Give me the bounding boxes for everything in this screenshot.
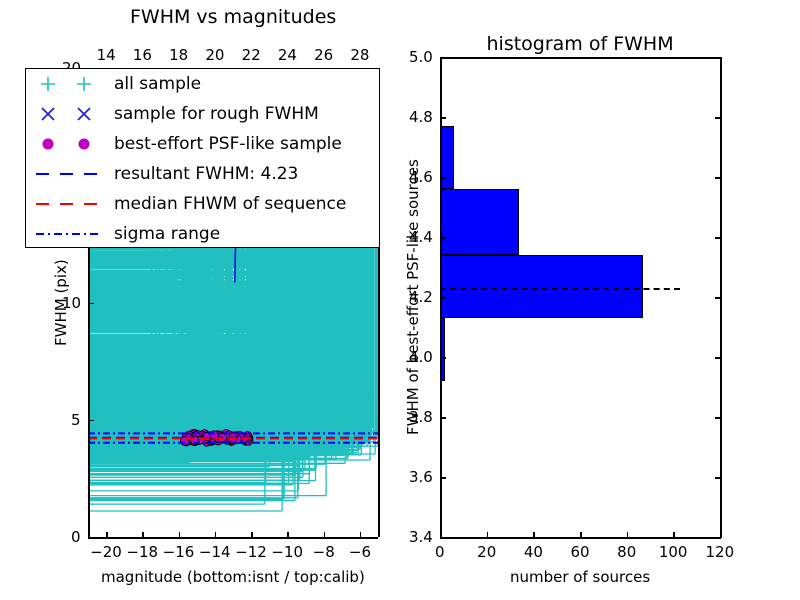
histogram-bar	[440, 189, 519, 255]
left-xtick-bottom	[179, 532, 181, 538]
right-ytick	[440, 57, 446, 59]
legend-marker-plus	[37, 73, 59, 95]
histogram-bar	[440, 126, 454, 189]
left-xticklabel-bottom: −8	[313, 543, 335, 561]
legend-label: best-effort PSF-like sample	[114, 134, 342, 154]
left-xtick-bottom	[324, 532, 326, 538]
right-xticklabel: 100	[659, 543, 688, 561]
right-ytick-mirror	[715, 297, 721, 299]
right-yaxis-label: FWHM of best-effort PSF-like sources	[404, 159, 422, 435]
legend-marker-plus	[73, 73, 95, 95]
right-yticklabel: 3.4	[409, 528, 433, 546]
left-xticklabel-top: 16	[133, 46, 152, 64]
left-xaxis-label: magnitude (bottom:isnt / top:calib)	[101, 568, 365, 586]
left-xticklabel-bottom: −6	[349, 543, 371, 561]
left-xticklabel-bottom: −14	[199, 543, 231, 561]
left-xticklabel-top: 18	[169, 46, 188, 64]
right-xticklabel: 80	[617, 543, 636, 561]
histogram-median-line	[440, 288, 680, 290]
right-ytick-mirror	[715, 57, 721, 59]
right-yticklabel: 5.0	[409, 48, 433, 66]
legend-row: sigma range	[26, 219, 379, 249]
legend-label: sample for rough FWHM	[114, 104, 319, 124]
right-ytick-mirror	[715, 237, 721, 239]
left-xtick-bottom	[215, 532, 217, 538]
right-xtick	[533, 532, 535, 538]
right-ytick	[440, 297, 446, 299]
left-panel-title: FWHM vs magnitudes	[130, 6, 336, 28]
legend-marker-cross	[37, 103, 59, 125]
legend-label: median FHWM of sequence	[114, 194, 346, 214]
left-xtick-bottom	[106, 532, 108, 538]
left-ytick	[88, 303, 94, 305]
left-xticklabel-bottom: −20	[90, 543, 122, 561]
legend-marker-dashed	[34, 197, 104, 211]
right-ytick	[440, 417, 446, 419]
right-xtick	[673, 532, 675, 538]
figure-canvas: −20−18−16−14−12−10−8−6141618202224262805…	[0, 0, 800, 600]
left-xticklabel-top: 24	[278, 46, 297, 64]
left-yticklabel: 5	[71, 411, 81, 429]
right-ytick	[440, 537, 446, 539]
right-yticklabel: 4.8	[409, 108, 433, 126]
legend-box: all samplesample for rough FWHMbest-effo…	[25, 68, 380, 248]
legend-row: sample for rough FWHM	[26, 99, 379, 129]
left-ytick	[88, 420, 94, 422]
legend-marker-circle	[37, 133, 59, 155]
right-plot-area	[440, 57, 720, 537]
right-xticklabel: 40	[524, 543, 543, 561]
right-ytick	[440, 117, 446, 119]
legend-label: resultant FWHM: 4.23	[114, 164, 298, 184]
left-ytick	[88, 537, 94, 539]
right-yticklabel: 3.6	[409, 468, 433, 486]
right-xticklabel: 60	[571, 543, 590, 561]
left-yticklabel: 0	[71, 528, 81, 546]
left-xticklabel-bottom: −18	[126, 543, 158, 561]
right-ytick	[440, 477, 446, 479]
legend-marker-dashdot	[34, 227, 104, 241]
right-ytick	[440, 357, 446, 359]
right-xticklabel: 0	[435, 543, 445, 561]
left-xticklabel-bottom: −10	[271, 543, 303, 561]
right-ytick-mirror	[715, 537, 721, 539]
left-xticklabel-bottom: −12	[235, 543, 267, 561]
legend-marker-circle	[73, 133, 95, 155]
left-xtick-bottom	[360, 532, 362, 538]
left-xticklabel-top: 26	[314, 46, 333, 64]
right-xtick	[580, 532, 582, 538]
right-ytick-mirror	[715, 117, 721, 119]
right-ytick-mirror	[715, 177, 721, 179]
left-xticklabel-top: 20	[205, 46, 224, 64]
left-xtick-bottom	[287, 532, 289, 538]
histogram-bar	[440, 255, 643, 318]
legend-row: all sample	[26, 69, 379, 99]
right-xticklabel: 120	[706, 543, 735, 561]
right-axis-spine-t	[440, 57, 720, 59]
legend-row: resultant FWHM: 4.23	[26, 159, 379, 189]
right-ytick-mirror	[715, 477, 721, 479]
right-ytick-mirror	[715, 417, 721, 419]
left-xtick-bottom	[251, 532, 253, 538]
left-xticklabel-top: 14	[97, 46, 116, 64]
left-xtick-bottom	[142, 532, 144, 538]
legend-row: best-effort PSF-like sample	[26, 129, 379, 159]
right-xaxis-label: number of sources	[510, 568, 650, 586]
right-panel-title: histogram of FWHM	[487, 33, 674, 55]
right-ytick	[440, 237, 446, 239]
legend-row: median FHWM of sequence	[26, 189, 379, 219]
left-axis-spine-b	[88, 537, 378, 539]
left-yaxis-label: FWHM (pix)	[52, 259, 70, 346]
right-xtick	[487, 532, 489, 538]
legend-marker-dashed	[34, 167, 104, 181]
legend-label: all sample	[114, 74, 201, 94]
right-ytick	[440, 177, 446, 179]
left-xticklabel-top: 28	[350, 46, 369, 64]
legend-marker-cross	[73, 103, 95, 125]
legend-label: sigma range	[114, 224, 220, 244]
right-xticklabel: 20	[477, 543, 496, 561]
left-xticklabel-bottom: −16	[163, 543, 195, 561]
right-xtick	[627, 532, 629, 538]
left-xticklabel-top: 22	[242, 46, 261, 64]
right-ytick-mirror	[715, 357, 721, 359]
